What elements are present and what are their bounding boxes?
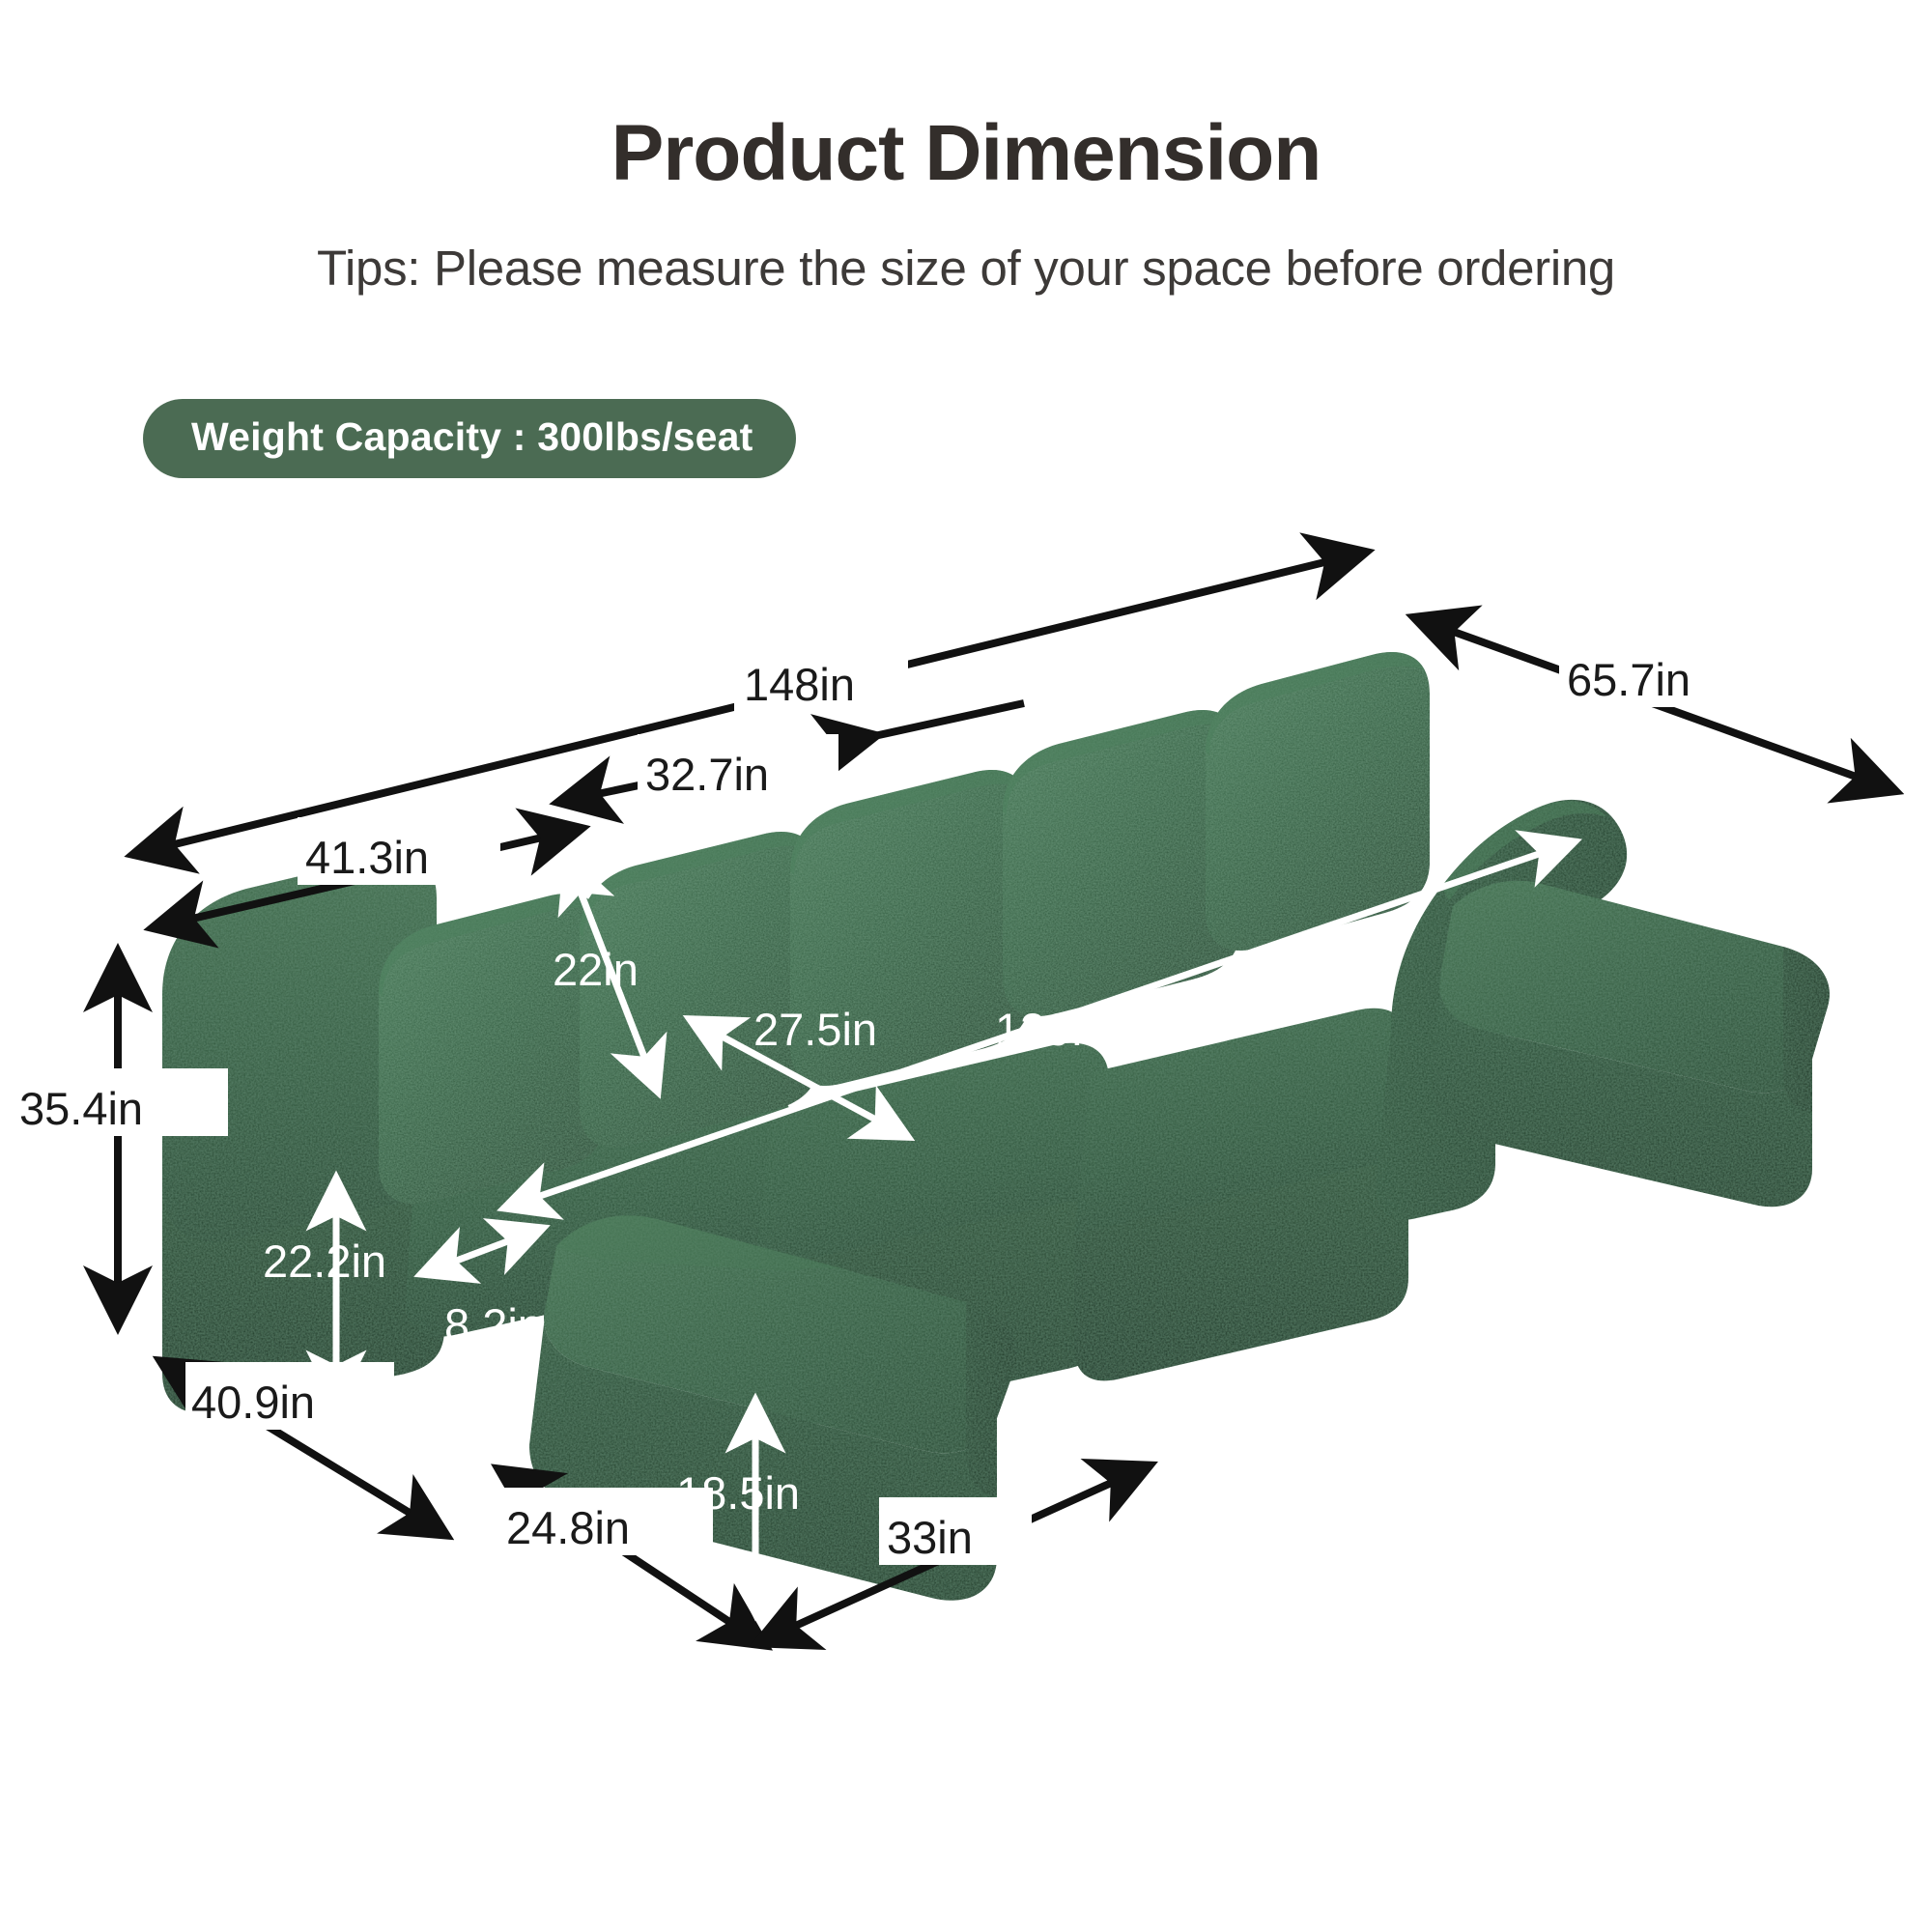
dim-label-40-9in: 40.9in <box>191 1377 315 1428</box>
dim-label-41-3in: 41.3in <box>305 832 429 883</box>
sofa-illustration <box>162 652 1830 1601</box>
sofa-pillow-1 <box>379 894 605 1204</box>
dim-label-65-7in: 65.7in <box>1567 654 1690 705</box>
dim-label-148in: 148in <box>744 659 855 710</box>
dim-label-33in: 33in <box>887 1512 973 1563</box>
dim-label-27-5in: 27.5in <box>753 1004 877 1055</box>
dim-label-24-8in: 24.8in <box>506 1502 630 1553</box>
dim-label-22in: 22in <box>553 944 639 995</box>
dim-label-8-2in: 8.2in <box>444 1299 543 1350</box>
sofa-dimension-diagram: 148in 32.7in 41.3in 65.7in <box>0 0 1932 1932</box>
sofa-module-middle-right <box>1074 1009 1408 1381</box>
dim-label-130-7in: 130.7in <box>995 1004 1144 1055</box>
dim-label-22-2in: 22.2in <box>263 1236 386 1287</box>
dim-sofa-depth: 40.9in <box>162 1362 444 1534</box>
dim-label-35-4in: 35.4in <box>19 1083 143 1134</box>
product-dimension-infographic: Product Dimension Tips: Please measure t… <box>0 0 1932 1932</box>
dim-overall-depth: 65.7in <box>1416 618 1893 790</box>
dim-label-18-5in: 18.5in <box>676 1467 800 1519</box>
dim-label-32-7in: 32.7in <box>645 749 769 800</box>
